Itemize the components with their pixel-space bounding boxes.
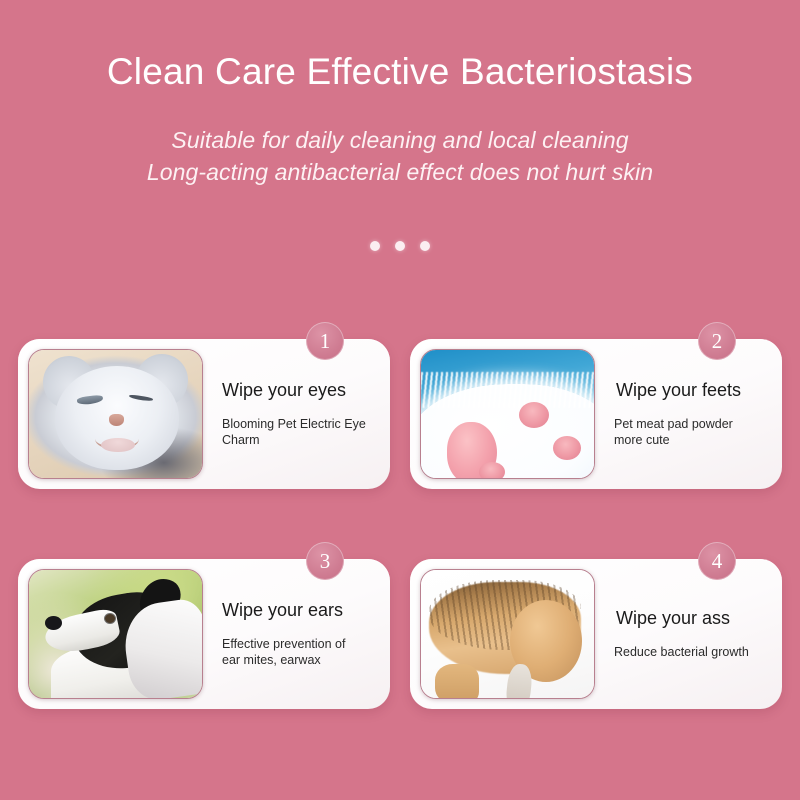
feature-card-title: Wipe your ears	[222, 600, 366, 622]
feature-card-number-badge: 3	[306, 542, 344, 580]
border-collie-illustration	[29, 570, 202, 698]
carousel-dot-1[interactable]	[370, 241, 380, 251]
feature-card-description: Blooming Pet Electric Eye Charm	[222, 416, 366, 448]
carousel-dot-3[interactable]	[420, 241, 430, 251]
banner-subline-group: Suitable for daily cleaning and local cl…	[0, 124, 800, 188]
feature-card-wipe-feets[interactable]: Wipe your feets Pet meat pad powder more…	[410, 339, 782, 489]
feature-card-wipe-ears[interactable]: Wipe your ears Effective prevention of e…	[18, 559, 390, 709]
cat-mouth-smile	[101, 438, 135, 452]
banner-headline: Clean Care Effective Bacteriostasis	[0, 52, 800, 93]
feature-card-title: Wipe your feets	[616, 380, 758, 402]
feature-card-wipe-ass[interactable]: Wipe your ass Reduce bacterial growth 4	[410, 559, 782, 709]
product-feature-banner: Clean Care Effective Bacteriostasis Suit…	[0, 0, 800, 800]
golden-dog-rear-illustration	[421, 570, 594, 698]
feature-card-text: Wipe your eyes Blooming Pet Electric Eye…	[203, 380, 380, 448]
paw-pad-toe-2	[553, 436, 581, 460]
feature-thumbnail-dog-ears	[28, 569, 203, 699]
dog-leg	[435, 664, 479, 699]
feature-card-number-badge: 2	[698, 322, 736, 360]
feature-card-title: Wipe your ass	[616, 608, 758, 630]
feature-card-number-badge: 1	[306, 322, 344, 360]
cat-eyes-illustration	[29, 350, 202, 478]
feature-card-number-badge: 4	[698, 542, 736, 580]
feature-card-text: Wipe your feets Pet meat pad powder more…	[595, 380, 772, 448]
paw-fur-texture	[420, 372, 595, 408]
paw-pad-toe-3	[479, 462, 505, 479]
banner-subline-1: Suitable for daily cleaning and local cl…	[0, 124, 800, 156]
carousel-dots[interactable]	[0, 241, 800, 251]
paw-pad-toe-1	[519, 402, 549, 428]
feature-card-text: Wipe your ass Reduce bacterial growth	[595, 608, 772, 660]
collie-eye	[105, 614, 115, 623]
feature-thumbnail-cat-eyes	[28, 349, 203, 479]
banner-header: Clean Care Effective Bacteriostasis Suit…	[0, 0, 800, 188]
feature-thumbnail-dog-rear	[420, 569, 595, 699]
carousel-dot-2[interactable]	[395, 241, 405, 251]
collie-nose	[45, 616, 62, 630]
feature-thumbnail-cat-paw	[420, 349, 595, 479]
banner-subline-2: Long-acting antibacterial effect does no…	[0, 156, 800, 188]
cat-paw-illustration	[421, 350, 594, 478]
feature-card-text: Wipe your ears Effective prevention of e…	[203, 600, 380, 668]
feature-card-title: Wipe your eyes	[222, 380, 366, 402]
feature-card-description: Reduce bacterial growth	[614, 644, 758, 660]
feature-card-description: Effective prevention of ear mites, earwa…	[222, 636, 366, 668]
feature-card-wipe-eyes[interactable]: Wipe your eyes Blooming Pet Electric Eye…	[18, 339, 390, 489]
cat-nose	[109, 414, 124, 426]
feature-card-description: Pet meat pad powder more cute	[614, 416, 758, 448]
feature-card-grid: Wipe your eyes Blooming Pet Electric Eye…	[18, 339, 782, 709]
